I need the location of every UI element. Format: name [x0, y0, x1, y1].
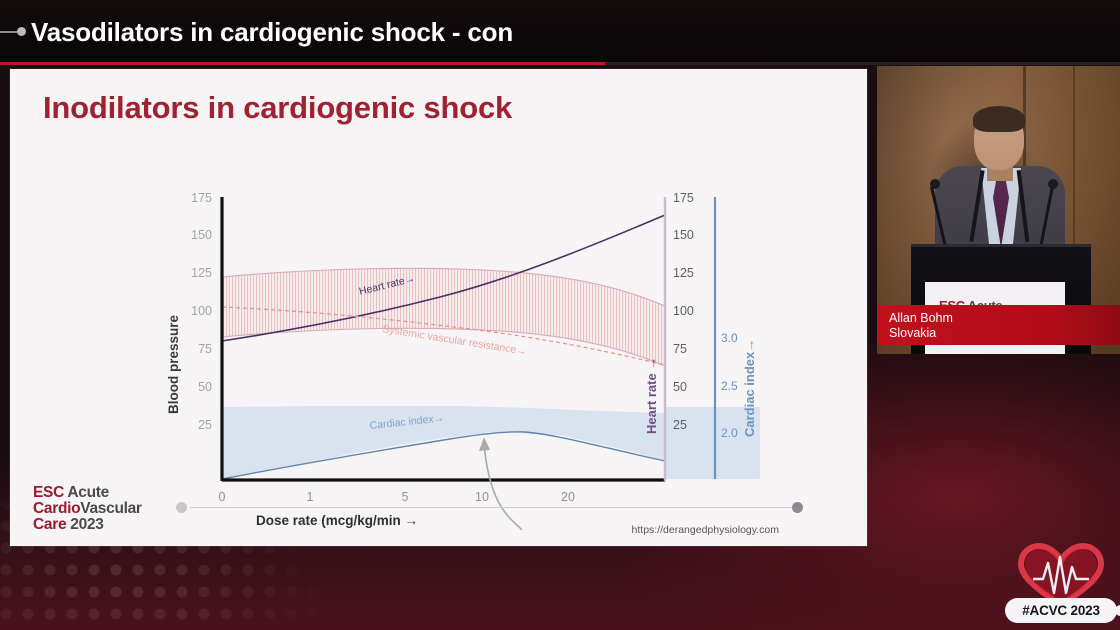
microphone-right-head-icon — [1048, 179, 1058, 189]
speaker-name-block: Allan Bohm Slovakia — [889, 311, 953, 341]
svg-text:50: 50 — [673, 380, 687, 394]
inodilator-dose-response-chart: 175 150 125 100 75 50 25 175 150 125 100… — [160, 189, 760, 544]
svg-text:150: 150 — [673, 228, 694, 242]
screen-root: Vasodilators in cardiogenic shock - con … — [0, 0, 1120, 630]
slide-track-end-handle[interactable] — [792, 502, 803, 513]
svg-text:2.5: 2.5 — [721, 379, 738, 393]
acvc-badge[interactable]: #ACVC 2023 — [1005, 543, 1120, 630]
y-axis-heart-rate-title: Heart rate → — [644, 357, 659, 434]
slide-track-line[interactable] — [190, 507, 798, 508]
svg-text:5: 5 — [402, 490, 409, 504]
svg-text:125: 125 — [673, 266, 694, 280]
svg-text:0: 0 — [219, 490, 226, 504]
svg-text:2.0: 2.0 — [721, 426, 738, 440]
speaker-country: Slovakia — [889, 326, 953, 341]
presentation-progress-bar[interactable] — [0, 62, 605, 65]
speaker-video-panel[interactable]: ESC Acute Allan Bohm Slovakia — [877, 66, 1120, 354]
svg-text:125: 125 — [191, 266, 212, 280]
svg-text:10: 10 — [475, 490, 489, 504]
slide-panel[interactable]: Inodilators in cardiogenic shock — [10, 69, 867, 546]
x-axis-title: Dose rate (mcg/kg/min → — [256, 513, 418, 528]
svg-text:75: 75 — [673, 342, 687, 356]
svg-text:50: 50 — [198, 380, 212, 394]
speaker-hair — [973, 106, 1025, 132]
y-axis-left-ticks: 175 150 125 100 75 50 25 — [191, 191, 212, 432]
acvc-hashtag-pill[interactable]: #ACVC 2023 — [1005, 598, 1117, 623]
page-title: Vasodilators in cardiogenic shock - con — [31, 17, 513, 48]
y-axis-heart-rate-ticks: 175 150 125 100 75 50 25 — [673, 191, 694, 432]
esc-logo-line1-a: ESC — [33, 484, 67, 501]
svg-text:75: 75 — [198, 342, 212, 356]
svg-text:175: 175 — [673, 191, 694, 205]
svg-text:3.0: 3.0 — [721, 331, 738, 345]
peak-annotation-arrowhead — [479, 437, 490, 451]
slide-track-start-handle[interactable] — [176, 502, 187, 513]
svg-text:100: 100 — [191, 304, 212, 318]
acvc-hashtag-label: #ACVC 2023 — [1022, 603, 1100, 618]
y-axis-cardiac-index-title: Cardiac index→ — [742, 339, 757, 437]
speaker-name: Allan Bohm — [889, 311, 953, 326]
presentation-header: Vasodilators in cardiogenic shock - con — [0, 0, 1120, 64]
esc-logo-line1-b: Acute — [67, 484, 109, 501]
esc-logo-line2-a: Cardio — [33, 500, 80, 517]
slide-source-url: https://derangedphysiology.com — [632, 524, 779, 536]
svg-text:100: 100 — [673, 304, 694, 318]
peak-annotation-arrow — [484, 444, 522, 530]
acvc-pill-dot — [1115, 605, 1120, 616]
chart-svg: 175 150 125 100 75 50 25 175 150 125 100… — [160, 189, 760, 544]
slide-title: Inodilators in cardiogenic shock — [43, 90, 512, 126]
svg-text:1: 1 — [307, 490, 314, 504]
y-axis-left-title: Blood pressure — [166, 314, 181, 414]
svg-text:150: 150 — [191, 228, 212, 242]
esc-logo-line2-b: Vascular — [80, 500, 141, 517]
esc-logo-line3-b: 2023 — [70, 516, 103, 533]
svg-text:175: 175 — [191, 191, 212, 205]
svg-text:20: 20 — [561, 490, 575, 504]
bullet-dot-icon — [17, 27, 26, 36]
svg-text:25: 25 — [198, 418, 212, 432]
svg-text:25: 25 — [673, 418, 687, 432]
microphone-left-head-icon — [930, 179, 940, 189]
blood-pressure-band — [222, 268, 665, 366]
x-axis-ticks: 0 1 5 10 20 — [219, 490, 575, 504]
esc-logo-line3-a: Care — [33, 516, 70, 533]
esc-slide-logo: ESC Acute CardioVascular Care 2023 — [33, 485, 142, 533]
